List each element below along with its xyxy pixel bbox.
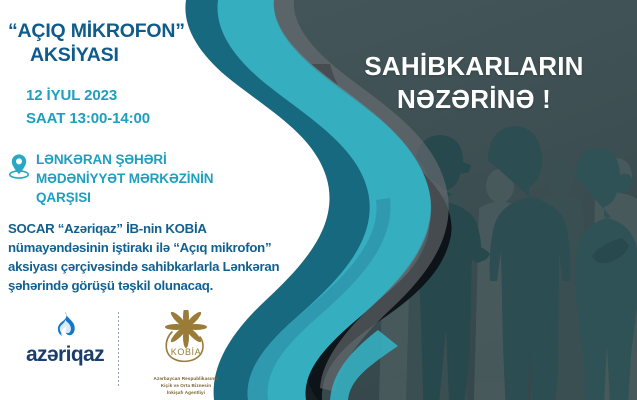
headline-line-1: SAHİBKARLARIN xyxy=(364,51,583,81)
event-time: SAAT 13:00-14:00 xyxy=(26,107,256,130)
description-line-3: aksiyası çərçivəsində sahibkarlarla Lənk… xyxy=(8,259,279,274)
kobia-sub-line-1: Azərbaycan Respublikasının xyxy=(133,376,239,383)
location-line-3: QARŞISI xyxy=(36,190,91,205)
poster-headline: SAHİBKARLARIN NƏZƏRİNƏ ! xyxy=(329,50,619,116)
title-line-2: AKSİYASI xyxy=(8,44,238,68)
location-line-1: LƏNKƏRAN ŞƏHƏRİ xyxy=(36,152,167,167)
event-description: SOCAR “Azəriqaz” İB-nin KOBİA nümayəndəs… xyxy=(8,219,308,295)
map-pin-icon xyxy=(8,153,30,184)
kobia-sub-line-2: Kiçik və Orta Biznesin xyxy=(133,383,239,390)
description-line-2: nümayəndəsinin iştirakı ilə “Açıq mikrof… xyxy=(8,240,271,255)
kobia-sub-line-3: İnkişafı Agentliyi xyxy=(133,390,239,397)
event-datetime: 12 İYUL 2023 SAAT 13:00-14:00 xyxy=(26,84,256,131)
flower-icon: KOBİA xyxy=(152,355,220,372)
kobia-logo: KOBİA Azərbaycan Respublikasının Kiçik v… xyxy=(119,308,239,397)
location-line-2: MƏDƏNİYYƏT MƏRKƏZİNİN xyxy=(36,171,213,186)
flame-icon xyxy=(50,327,80,344)
headline-line-2: NƏZƏRİNƏ ! xyxy=(329,83,619,116)
poster-canvas: “AÇIQ MİKROFON” AKSİYASI 12 İYUL 2023 SA… xyxy=(0,0,637,400)
poster-title: “AÇIQ MİKROFON” AKSİYASI xyxy=(8,20,238,68)
kobia-subtitle: Azərbaycan Respublikasının Kiçik və Orta… xyxy=(133,376,239,397)
azeriqaz-logo: azəriqaz xyxy=(0,308,118,367)
event-date: 12 İYUL 2023 xyxy=(26,84,256,107)
title-line-1: “AÇIQ MİKROFON” xyxy=(8,20,185,42)
event-location: LƏNKƏRAN ŞƏHƏRİ MƏDƏNİYYƏT MƏRKƏZİNİN QA… xyxy=(8,150,270,207)
kobia-wordmark: KOBİA xyxy=(171,347,202,357)
description-line-4: şəhərində görüşü təşkil olunacaq. xyxy=(8,278,213,293)
location-text: LƏNKƏRAN ŞƏHƏRİ MƏDƏNİYYƏT MƏRKƏZİNİN QA… xyxy=(36,150,213,207)
logo-row: azəriqaz xyxy=(0,308,260,400)
description-line-1: SOCAR “Azəriqaz” İB-nin KOBİA xyxy=(8,221,207,236)
azeriqaz-wordmark: azəriqaz xyxy=(12,343,118,367)
left-content-column: “AÇIQ MİKROFON” AKSİYASI 12 İYUL 2023 SA… xyxy=(0,0,300,400)
silhouette-woman xyxy=(575,148,637,400)
